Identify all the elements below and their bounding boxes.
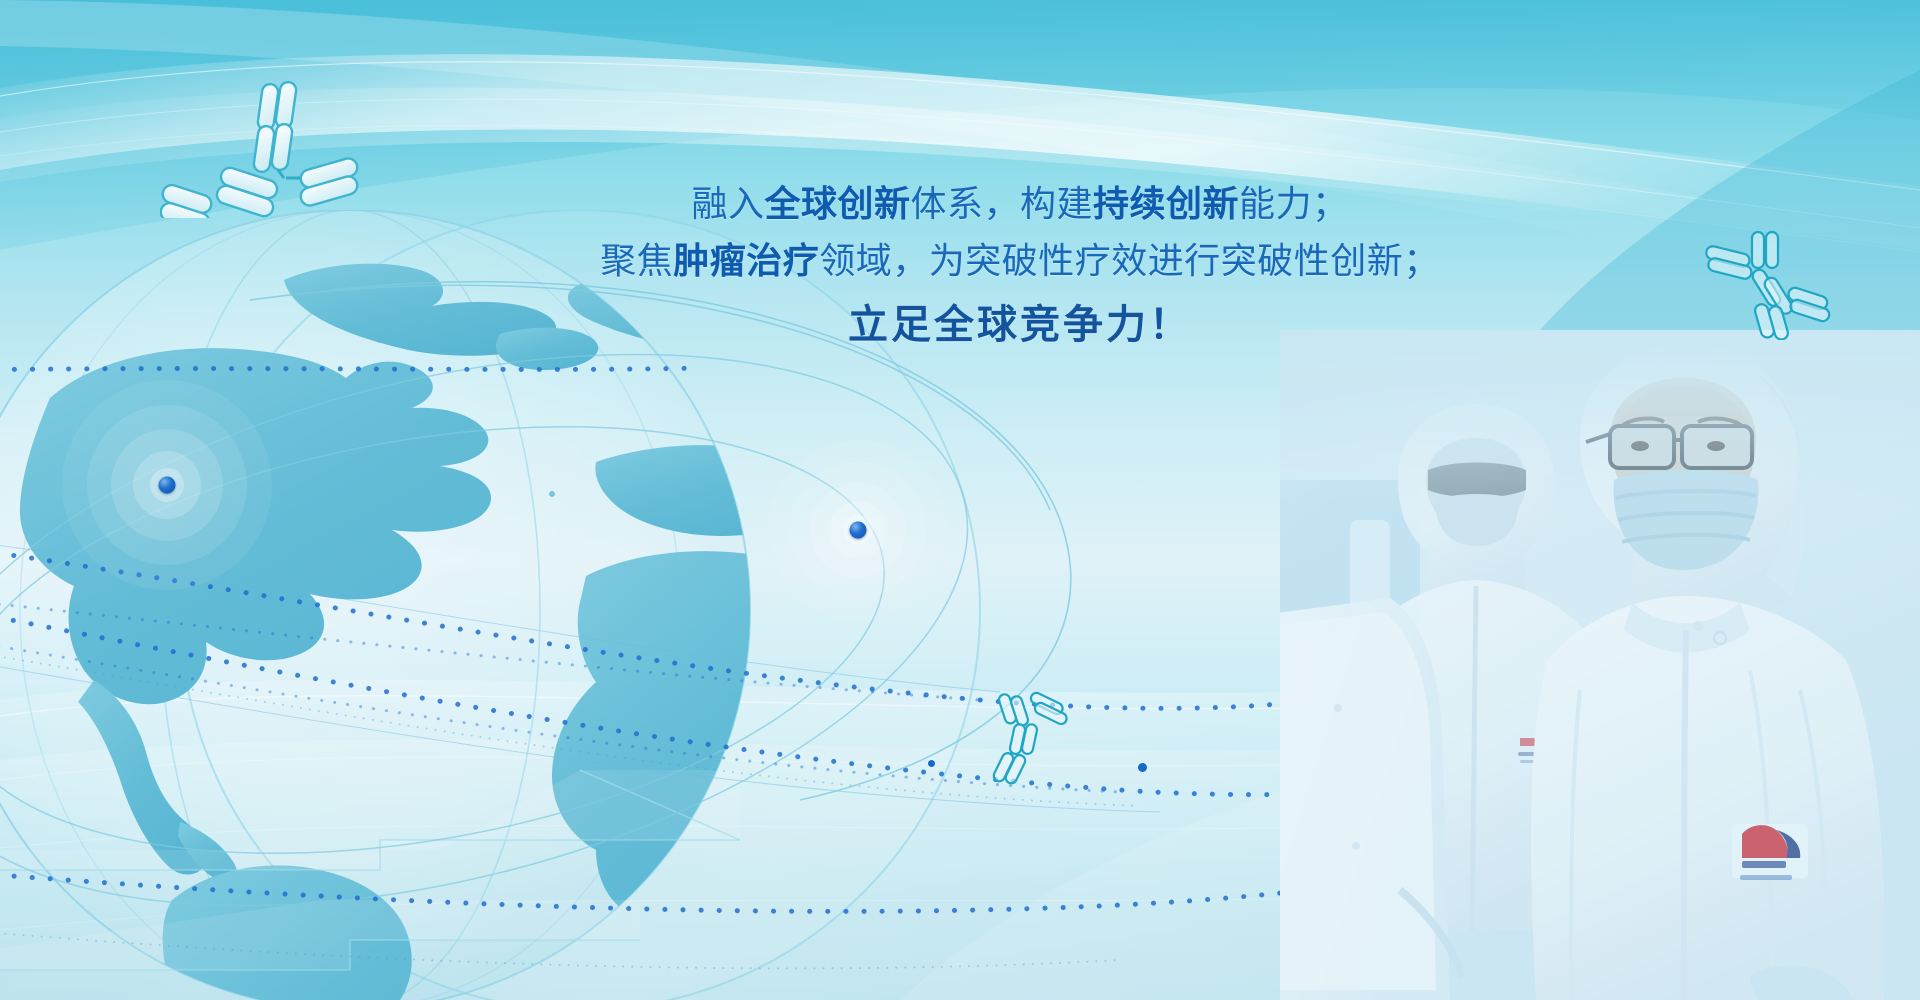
headline-line-3: 立足全球竞争力！ [560,294,1480,357]
headline-l1-seg5: 能力； [1239,183,1349,224]
headline-l2-seg2: 肿瘤治疗 [673,240,819,281]
antibody-molecule-icon [1700,228,1832,340]
network-node-dot [549,491,555,497]
headline-l1-seg2: 全球创新 [764,183,910,224]
headline-l1-seg1: 融入 [691,183,764,224]
headline-l1-seg4: 持续创新 [1093,183,1239,224]
headline-l2-seg1: 聚焦 [600,240,673,281]
antibody-molecule-icon [160,78,370,218]
researchers-in-cleanroom-suits [1280,330,1920,1000]
headline-l2-seg3: 领域，为突破性疗效进行突破性创新； [819,240,1440,281]
headline-line-2: 聚焦肿瘤治疗领域，为突破性疗效进行突破性创新； [560,233,1480,290]
dotted-orbit-paths [0,0,1920,1000]
network-node-dot [928,760,935,767]
headline-line-1: 融入全球创新体系，构建持续创新能力； [560,176,1480,233]
headline-block: 融入全球创新体系，构建持续创新能力； 聚焦肿瘤治疗领域，为突破性疗效进行突破性创… [560,176,1480,357]
background-waves [0,0,1920,1000]
location-marker-north-america [62,380,272,590]
network-node-dot [1138,763,1147,772]
hero-banner: 融入全球创新体系，构建持续创新能力； 聚焦肿瘤治疗领域，为突破性疗效进行突破性创… [0,0,1920,1000]
location-marker-asia [768,440,948,620]
antibody-molecule-icon [972,690,1072,786]
headline-l1-seg3: 体系，构建 [910,183,1093,224]
